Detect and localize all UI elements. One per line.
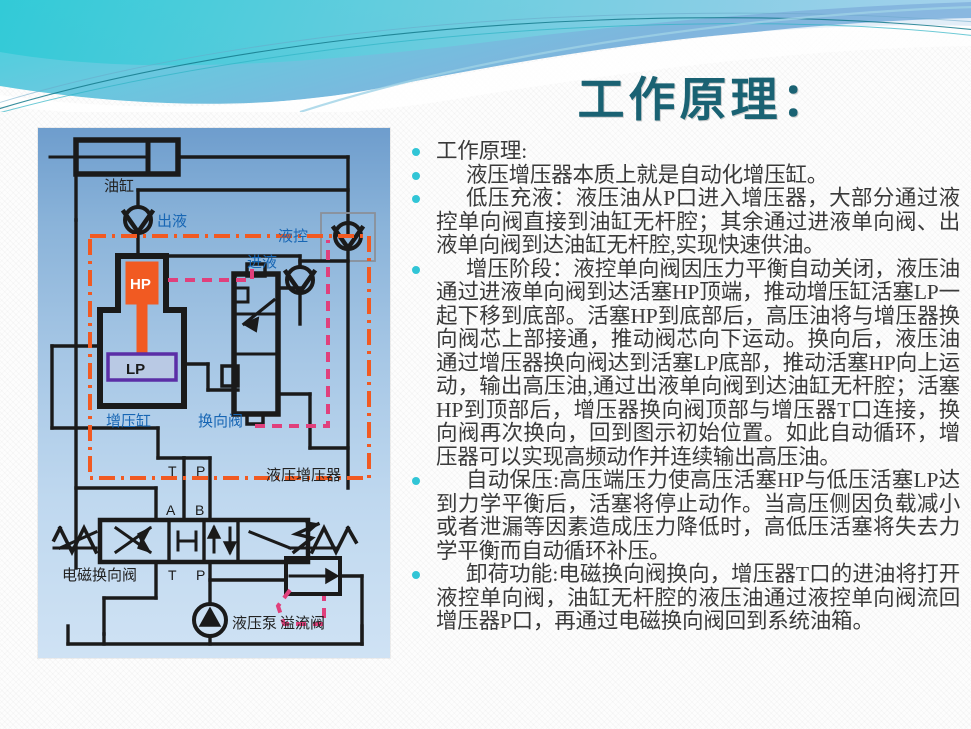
- label-port-t-upper: T: [168, 463, 177, 479]
- label-cylinder: 油缸: [104, 177, 134, 195]
- label-port-p-upper: P: [196, 463, 205, 479]
- label-port-t-lower: T: [168, 567, 177, 583]
- label-booster-cylinder: 增压缸: [106, 412, 151, 430]
- label-outlet-check: 出液: [157, 213, 187, 230]
- label-port-a: A: [166, 502, 176, 518]
- label-hydraulic-booster: 液压增压器: [266, 467, 341, 484]
- label-pump: 液压泵: [232, 615, 277, 632]
- page-title: 工作原理：: [470, 78, 940, 125]
- label-inlet-check: 进液: [247, 254, 277, 271]
- label-port-p-lower: P: [196, 567, 205, 583]
- list-item: 自动保压:高压端压力使高压活塞HP与低压活塞LP达到力学平衡后，活塞将停止动作。…: [404, 469, 960, 563]
- list-item: 卸荷功能:电磁换向阀换向，增压器T口的进油将打开液控单向阀，油缸无杆腔的液压油通…: [404, 563, 960, 634]
- list-item: 工作原理:: [404, 140, 960, 164]
- label-lp-piston: LP: [126, 361, 145, 378]
- label-port-b: B: [195, 502, 204, 518]
- bullet-list: 工作原理: 液压增压器本质上就是自动化增压缸。 低压充液：液压油从P口进入增压器…: [404, 140, 960, 634]
- label-solenoid-valve: 电磁换向阀: [62, 567, 137, 584]
- hydraulic-schematic-diagram: 油缸 出液 液控 进液 增压缸 换向阀 液压增压器 电磁换向阀 液压泵 溢流阀 …: [38, 128, 390, 658]
- list-item: 增压阶段：液控单向阀因压力平衡自动关闭，液压油通过进液单向阀到达活塞HP顶端，推…: [404, 258, 960, 470]
- label-pilot-check: 液控: [278, 228, 308, 245]
- slide-root: 工作原理：: [0, 0, 971, 729]
- body-content: 工作原理: 液压增压器本质上就是自动化增压缸。 低压充液：液压油从P口进入增压器…: [404, 140, 960, 634]
- label-hp-piston: HP: [130, 276, 151, 293]
- list-item: 低压充液：液压油从P口进入增压器，大部分通过液控单向阀直接到油缸无杆腔；其余通过…: [404, 187, 960, 258]
- label-reversing-valve: 换向阀: [198, 413, 243, 430]
- label-relief-valve: 溢流阀: [280, 615, 325, 632]
- list-item: 液压增压器本质上就是自动化增压缸。: [404, 164, 960, 188]
